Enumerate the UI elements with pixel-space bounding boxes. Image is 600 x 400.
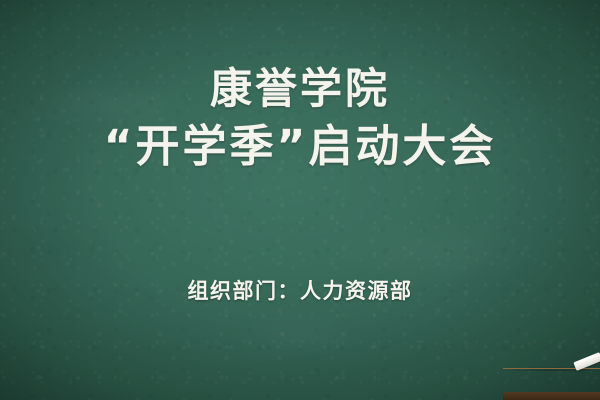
slide-content: 康誉学院 “开学季”启动大会 组织部门：人力资源部 — [0, 0, 600, 400]
title-line-2: “开学季”启动大会 — [0, 120, 600, 174]
chalk-tray — [503, 368, 600, 400]
chalk-tray-base — [503, 392, 600, 400]
chalk-tray-wood — [503, 368, 600, 394]
title-slide: 康誉学院 “开学季”启动大会 组织部门：人力资源部 — [0, 0, 600, 400]
title-line-1: 康誉学院 — [0, 64, 600, 114]
slide-title: 康誉学院 “开学季”启动大会 — [0, 64, 600, 174]
slide-subtitle: 组织部门：人力资源部 — [0, 275, 600, 305]
